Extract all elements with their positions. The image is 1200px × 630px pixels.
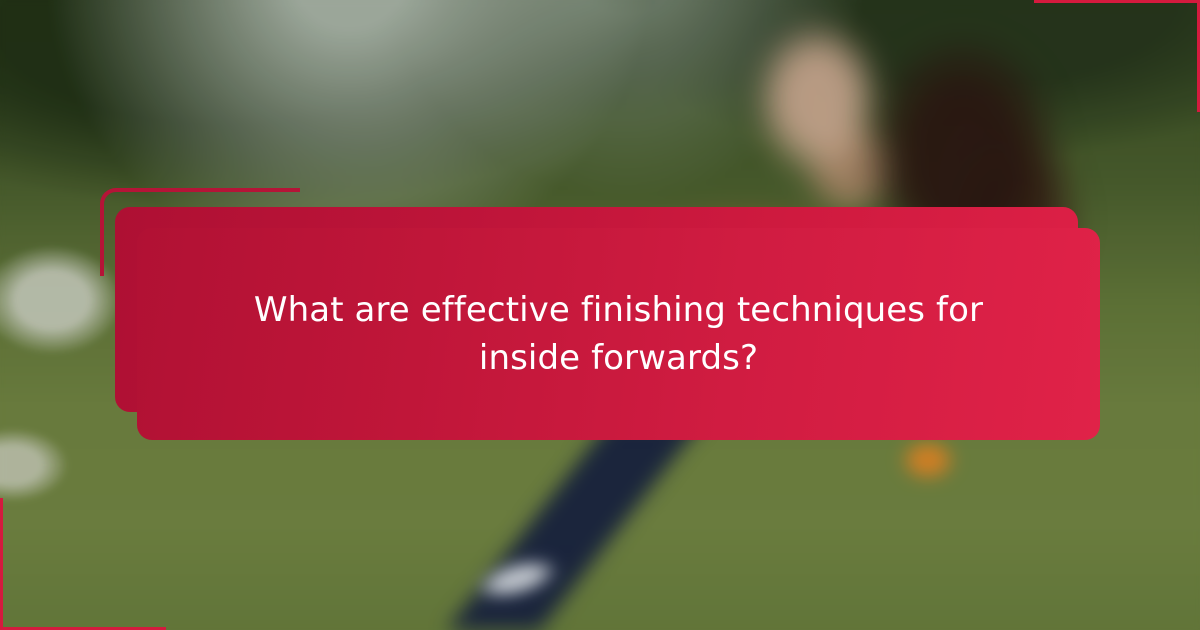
question-title: What are effective finishing techniques … bbox=[239, 286, 999, 383]
question-card[interactable]: What are effective finishing techniques … bbox=[137, 228, 1100, 440]
screenshot-canvas: What are effective finishing techniques … bbox=[0, 0, 1200, 630]
